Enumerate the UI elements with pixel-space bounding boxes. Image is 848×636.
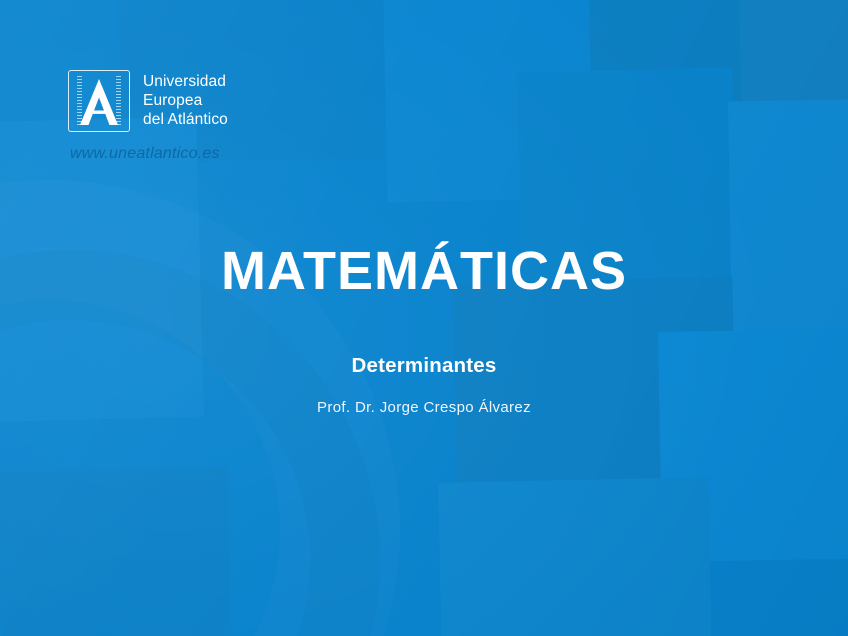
logo-wordmark: Universidad Europea del Atlántico [143, 70, 228, 129]
logo-wordmark-line-2: Europea [143, 91, 228, 110]
title-group: MATEMÁTICAS Determinantes Prof. Dr. Jorg… [0, 244, 848, 416]
presentation-title-slide: Universidad Europea del Atlántico www.un… [0, 0, 848, 636]
background-block [588, 0, 781, 142]
slide-subtitle: Determinantes [0, 354, 848, 378]
background-block [0, 468, 232, 636]
logo-letter-a-shape [68, 70, 130, 132]
slide-author: Prof. Dr. Jorge Crespo Álvarez [0, 399, 848, 416]
university-logo: Universidad Europea del Atlántico [68, 70, 228, 132]
background-block [438, 477, 712, 636]
logo-a-monogram-icon [68, 70, 130, 132]
logo-wordmark-line-1: Universidad [143, 72, 228, 91]
slide-title: MATEMÁTICAS [0, 244, 848, 298]
logo-wordmark-line-3: del Atlántico [143, 110, 228, 129]
background-block [739, 0, 848, 106]
university-website-url: www.uneatlantico.es [70, 145, 220, 163]
background-block [383, 0, 628, 202]
